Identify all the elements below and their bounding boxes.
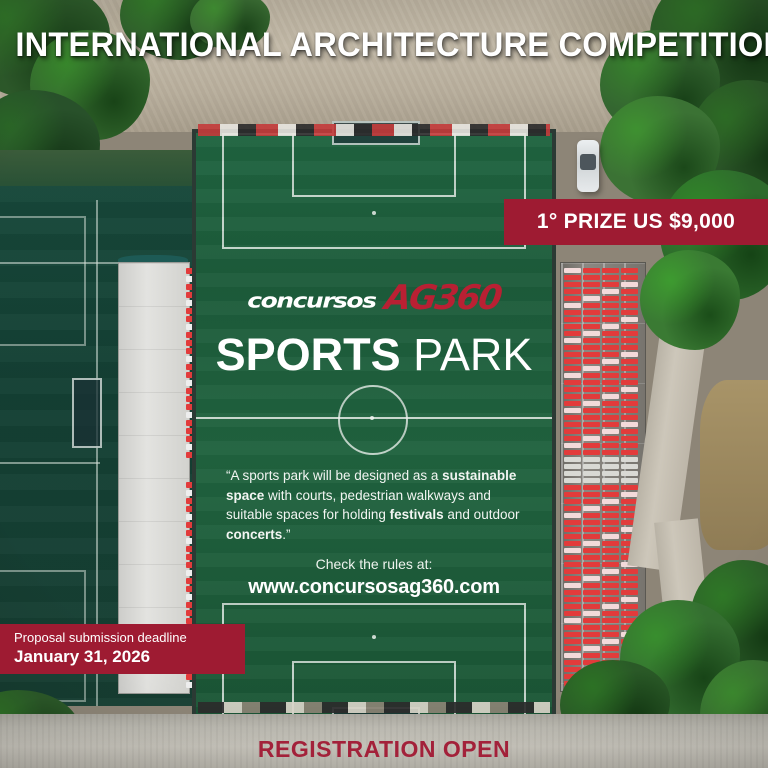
stadium-seat — [621, 471, 638, 476]
stadium-seat — [602, 576, 619, 581]
stadium-seat — [583, 317, 600, 322]
stadium-seat — [602, 415, 619, 420]
stadium-seat — [564, 457, 581, 462]
deadline-date: January 31, 2026 — [14, 646, 245, 667]
stadium-seat — [621, 450, 638, 455]
stadium-seat — [564, 415, 581, 420]
main-football-pitch — [196, 133, 552, 719]
stadium-seat — [583, 478, 600, 483]
stadium-seat — [583, 457, 600, 462]
stadium-seat — [564, 324, 581, 329]
stadium-seat — [564, 443, 581, 448]
stadium-seat — [621, 331, 638, 336]
advertising-boards-bottom — [198, 702, 550, 713]
stadium-seat — [583, 366, 600, 371]
stadium-seat — [602, 296, 619, 301]
stadium-seat — [583, 422, 600, 427]
stadium-seat — [621, 289, 638, 294]
stadium-seat — [602, 394, 619, 399]
stadium-seat — [602, 401, 619, 406]
stadium-seat — [602, 450, 619, 455]
stadium-seat — [564, 583, 581, 588]
stadium-seat — [621, 576, 638, 581]
stadium-seat — [583, 394, 600, 399]
stadium-seat — [564, 478, 581, 483]
stadium-seat — [583, 443, 600, 448]
deadline-label: Proposal submission deadline — [14, 630, 245, 646]
stadium-seat — [602, 485, 619, 490]
stadium-seat — [583, 408, 600, 413]
stadium-seat — [583, 387, 600, 392]
stadium-seat — [583, 513, 600, 518]
rules-prompt: Check the rules at: — [196, 556, 552, 572]
brand-logo: concursosAG360 — [196, 278, 552, 318]
stadium-seat — [564, 422, 581, 427]
stadium-seat — [602, 464, 619, 469]
stadium-seat — [621, 478, 638, 483]
stadium-seat — [583, 569, 600, 574]
stadium-seat — [583, 282, 600, 287]
stadium-seat — [602, 429, 619, 434]
stadium-seat — [621, 583, 638, 588]
stadium-seat — [621, 317, 638, 322]
stadium-seat — [602, 387, 619, 392]
stadium-seat — [602, 436, 619, 441]
stadium-seat — [602, 380, 619, 385]
stadium-seat — [564, 282, 581, 287]
stadium-seat — [602, 527, 619, 532]
stadium-seat — [621, 604, 638, 609]
stadium-seat — [583, 499, 600, 504]
stadium-seat — [583, 268, 600, 273]
stadium-seat — [621, 380, 638, 385]
prize-banner: 1° PRIZE US $9,000 — [504, 199, 768, 245]
stadium-seat — [564, 331, 581, 336]
stadium-seat — [621, 310, 638, 315]
stadium-seat — [583, 527, 600, 532]
stadium-seat — [602, 548, 619, 553]
stadium-seat — [564, 576, 581, 581]
stadium-seat — [564, 548, 581, 553]
stadium-seat — [564, 436, 581, 441]
stadium-seat — [602, 359, 619, 364]
stadium-seat — [621, 296, 638, 301]
tree-cluster — [640, 250, 740, 350]
stadium-seat — [602, 597, 619, 602]
stadium-seat — [583, 492, 600, 497]
stadium-seat — [564, 296, 581, 301]
stadium-seat — [602, 422, 619, 427]
prize-label: 1° PRIZE US $9,000 — [537, 210, 735, 234]
stadium-seat — [583, 534, 600, 539]
stadium-seat — [621, 597, 638, 602]
stadium-seat — [564, 569, 581, 574]
stadium-seat — [564, 387, 581, 392]
stadium-seat — [564, 562, 581, 567]
penalty-box-top — [222, 133, 526, 249]
poster-canvas: INTERNATIONAL ARCHITECTURE COMPETITIONS … — [0, 0, 768, 768]
stadium-seat — [621, 429, 638, 434]
stadium-seat — [583, 646, 600, 651]
stadium-seat — [583, 653, 600, 658]
stadium-seat — [583, 590, 600, 595]
stadium-seat — [602, 513, 619, 518]
stadium-seat — [602, 555, 619, 560]
stadium-seat — [602, 310, 619, 315]
stadium-seat — [602, 653, 619, 658]
stadium-seat — [602, 373, 619, 378]
stadium-seat — [602, 338, 619, 343]
stadium-seat — [602, 492, 619, 497]
stadium-seat — [602, 303, 619, 308]
stadium-seat — [602, 478, 619, 483]
center-spot — [370, 416, 374, 420]
stadium-seat — [602, 534, 619, 539]
stadium-seat — [564, 492, 581, 497]
stadium-seat — [564, 506, 581, 511]
stadium-seat — [583, 310, 600, 315]
stadium-seat — [602, 562, 619, 567]
grandstand-seat-column — [564, 268, 581, 686]
stadium-seat — [564, 527, 581, 532]
stadium-seat — [602, 632, 619, 637]
stadium-seat — [564, 618, 581, 623]
description-text: “A sports park will be designed as a — [226, 468, 442, 483]
stadium-seat — [583, 639, 600, 644]
right-grandstand-seats — [564, 268, 638, 686]
stadium-seat — [564, 464, 581, 469]
stadium-seat — [602, 408, 619, 413]
stadium-seat — [621, 359, 638, 364]
stadium-seat — [564, 303, 581, 308]
stadium-seat — [621, 464, 638, 469]
stadium-seat — [564, 625, 581, 630]
stadium-seat — [564, 394, 581, 399]
stadium-seat — [564, 660, 581, 665]
registration-status: REGISTRATION OPEN — [0, 736, 768, 763]
stadium-seat — [621, 492, 638, 497]
title-light-part: PARK — [401, 329, 533, 380]
stadium-seat — [602, 506, 619, 511]
stadium-seat — [583, 583, 600, 588]
stadium-seat — [564, 597, 581, 602]
stadium-seat — [621, 282, 638, 287]
stadium-seat — [621, 366, 638, 371]
description-text: .” — [282, 527, 290, 542]
stadium-seat — [602, 499, 619, 504]
stadium-seat — [602, 541, 619, 546]
penalty-box — [0, 216, 86, 346]
halfway-line — [0, 462, 100, 464]
stadium-seat — [564, 653, 581, 658]
stadium-seat — [621, 415, 638, 420]
stadium-seat — [583, 289, 600, 294]
goal-net — [72, 378, 102, 448]
penalty-spot-bottom — [372, 635, 376, 639]
stadium-seat — [564, 310, 581, 315]
stadium-seat — [602, 366, 619, 371]
stadium-seat — [583, 555, 600, 560]
stadium-seat — [564, 338, 581, 343]
stadium-seat — [602, 317, 619, 322]
stadium-seat — [621, 590, 638, 595]
stadium-seat — [583, 471, 600, 476]
stadium-seat — [602, 471, 619, 476]
stadium-seat — [602, 331, 619, 336]
stadium-seat — [583, 562, 600, 567]
stadium-seat — [564, 639, 581, 644]
stadium-seat — [621, 268, 638, 273]
stadium-seat — [583, 401, 600, 406]
page-title: INTERNATIONAL ARCHITECTURE COMPETITIONS — [15, 26, 752, 65]
stadium-seat — [583, 506, 600, 511]
logo-concursos-text: concursos — [247, 289, 375, 312]
stadium-seat — [621, 436, 638, 441]
description-emphasis: concerts — [226, 527, 282, 542]
deadline-banner: Proposal submission deadline January 31,… — [0, 624, 245, 674]
stadium-seat — [621, 387, 638, 392]
stadium-seat — [564, 401, 581, 406]
stadium-seat — [564, 590, 581, 595]
stadium-seat — [583, 450, 600, 455]
stadium-seat — [583, 541, 600, 546]
stadium-seat — [602, 282, 619, 287]
stadium-seat — [564, 632, 581, 637]
grandstand-seat-column — [583, 268, 600, 686]
description-text: and outdoor — [444, 507, 520, 522]
stadium-seat — [621, 408, 638, 413]
stadium-seat — [564, 429, 581, 434]
dry-ground-right — [700, 380, 768, 550]
stadium-seat — [583, 359, 600, 364]
stadium-seat — [564, 359, 581, 364]
stadium-seat — [621, 485, 638, 490]
stadium-seat — [621, 324, 638, 329]
stadium-seat — [583, 429, 600, 434]
stadium-seat — [583, 345, 600, 350]
competition-title: SPORTS PARK — [196, 332, 552, 377]
stadium-seat — [621, 394, 638, 399]
website-url[interactable]: www.concursosag360.com — [196, 576, 552, 599]
stadium-seat — [583, 485, 600, 490]
stadium-seat — [602, 590, 619, 595]
stadium-seat — [621, 443, 638, 448]
stadium-seat — [583, 597, 600, 602]
stadium-seat — [564, 408, 581, 413]
stadium-seat — [583, 324, 600, 329]
competition-description: “A sports park will be designed as a sus… — [226, 466, 532, 544]
stadium-seat — [564, 499, 581, 504]
stadium-seat — [564, 345, 581, 350]
halfway-line — [196, 417, 552, 419]
penalty-spot-top — [372, 211, 376, 215]
stadium-seat — [602, 352, 619, 357]
stadium-seat — [602, 520, 619, 525]
stadium-seat — [564, 513, 581, 518]
stadium-seat — [564, 534, 581, 539]
stadium-seat — [602, 583, 619, 588]
stadium-seat — [621, 352, 638, 357]
parked-car — [577, 140, 599, 192]
stadium-seat — [583, 604, 600, 609]
stadium-seat — [583, 625, 600, 630]
stadium-seat — [621, 422, 638, 427]
logo-ag360-text: AG360 — [383, 278, 504, 318]
description-emphasis: festivals — [390, 507, 444, 522]
stadium-seat — [583, 296, 600, 301]
stadium-seat — [602, 324, 619, 329]
stadium-seat — [564, 366, 581, 371]
stadium-seat — [621, 373, 638, 378]
center-circle — [338, 385, 408, 455]
stadium-seat — [602, 569, 619, 574]
stadium-seat — [583, 576, 600, 581]
stadium-seat — [621, 569, 638, 574]
goal-area-top — [292, 133, 456, 197]
stadium-seat — [564, 317, 581, 322]
stadium-seat — [564, 380, 581, 385]
stadium-seat — [564, 555, 581, 560]
stadium-seat — [602, 268, 619, 273]
stadium-seat — [602, 618, 619, 623]
stadium-seat — [602, 457, 619, 462]
grandstand-seat-column — [602, 268, 619, 686]
stadium-seat — [564, 485, 581, 490]
stadium-seat — [583, 338, 600, 343]
stadium-seat — [564, 275, 581, 280]
stadium-seat — [621, 338, 638, 343]
stadium-seat — [621, 275, 638, 280]
title-bold-part: SPORTS — [216, 329, 401, 380]
stadium-seat — [602, 443, 619, 448]
stadium-seat — [583, 618, 600, 623]
stadium-seat — [621, 303, 638, 308]
stadium-seat — [621, 401, 638, 406]
stadium-seat — [602, 604, 619, 609]
stadium-seat — [602, 289, 619, 294]
stadium-seat — [583, 464, 600, 469]
stadium-seat — [602, 345, 619, 350]
stadium-seat — [621, 457, 638, 462]
stadium-seat — [583, 380, 600, 385]
stadium-seat — [602, 275, 619, 280]
advertising-boards-top — [198, 124, 550, 136]
stadium-seat — [583, 373, 600, 378]
stadium-seat — [564, 520, 581, 525]
stadium-seat — [583, 275, 600, 280]
stadium-seat — [583, 415, 600, 420]
stadium-seat — [564, 352, 581, 357]
stadium-seat — [564, 289, 581, 294]
stadium-seat — [621, 345, 638, 350]
stadium-seat — [602, 646, 619, 651]
stadium-seat — [564, 471, 581, 476]
stadium-seat — [564, 268, 581, 273]
stadium-seat — [564, 604, 581, 609]
stadium-seat — [564, 450, 581, 455]
stadium-seat — [602, 639, 619, 644]
stadium-seat — [564, 646, 581, 651]
stadium-seat — [583, 303, 600, 308]
stadium-seat — [602, 611, 619, 616]
stadium-seat — [583, 632, 600, 637]
stadium-seat — [583, 331, 600, 336]
stadium-seat — [621, 611, 638, 616]
stadium-seat — [564, 541, 581, 546]
stadium-seat — [583, 352, 600, 357]
stadium-seat — [583, 520, 600, 525]
stadium-seat — [564, 373, 581, 378]
stadium-seat — [583, 611, 600, 616]
stadium-seat — [583, 548, 600, 553]
stadium-seat — [602, 625, 619, 630]
stadium-seat — [564, 611, 581, 616]
stadium-seat — [583, 436, 600, 441]
